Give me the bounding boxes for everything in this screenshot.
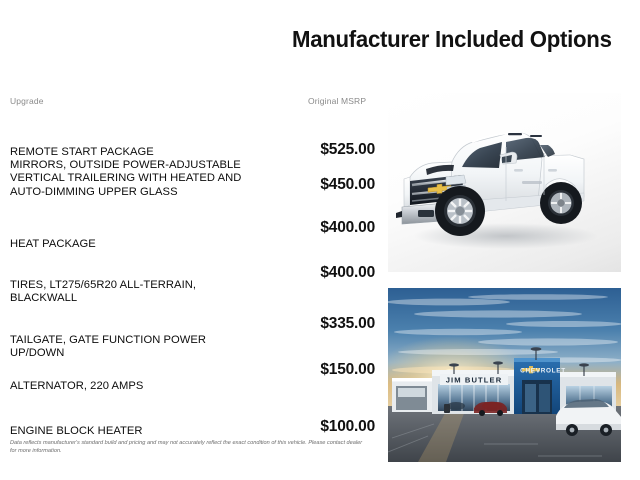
table-row: ALTERNATOR, 220 AMPS $150.00 <box>0 361 386 404</box>
table-row: TAILGATE, GATE FUNCTION POWER UP/DOWN $3… <box>0 314 386 361</box>
rear-wheel <box>540 182 582 224</box>
option-label: MIRRORS, OUTSIDE POWER-ADJUSTABLE VERTIC… <box>10 159 255 199</box>
table-row: REMOTE START PACKAGE $525.00 <box>0 116 386 159</box>
column-header-upgrade: Upgrade <box>10 96 44 106</box>
option-price: $335.00 <box>236 315 375 333</box>
table-header-row: Upgrade Original MSRP <box>0 96 386 116</box>
dealership-illustration: JIM BUTLER CHEVROLET <box>388 288 621 462</box>
option-price: $525.00 <box>236 141 375 159</box>
table-row: MIRRORS, OUTSIDE POWER-ADJUSTABLE VERTIC… <box>0 159 386 219</box>
option-label: HEAT PACKAGE <box>10 238 255 251</box>
option-label: TAILGATE, GATE FUNCTION POWER UP/DOWN <box>10 334 255 361</box>
page-title: Manufacturer Included Options <box>292 26 601 52</box>
option-label: ALTERNATOR, 220 AMPS <box>10 380 255 393</box>
options-table: Upgrade Original MSRP REMOTE START PACKA… <box>0 96 386 444</box>
column-header-msrp: Original MSRP <box>308 96 366 106</box>
option-label: TIRES, LT275/65R20 ALL-TERRAIN, BLACKWAL… <box>10 279 255 306</box>
dealership-sign-text: JIM BUTLER <box>446 375 503 384</box>
option-label: ENGINE BLOCK HEATER <box>10 425 255 438</box>
truck-illustration <box>388 93 621 272</box>
option-price: $450.00 <box>236 176 375 194</box>
option-price: $400.00 <box>236 264 375 282</box>
dealership-exterior-photo: JIM BUTLER CHEVROLET <box>388 288 621 462</box>
option-price: $100.00 <box>236 418 375 436</box>
table-row: ENGINE BLOCK HEATER $100.00 <box>0 404 386 444</box>
option-price: $400.00 <box>236 219 375 237</box>
front-wheel <box>435 186 485 236</box>
option-price: $150.00 <box>236 361 375 379</box>
dealership-brand-text: CHEVROLET <box>520 367 566 374</box>
option-label: REMOTE START PACKAGE <box>10 146 255 159</box>
disclaimer-text: Data reflects manufacturer's standard bu… <box>10 440 370 455</box>
white-pickup-truck-photo <box>388 93 621 272</box>
table-row: TIRES, LT275/65R20 ALL-TERRAIN, BLACKWAL… <box>0 264 386 314</box>
manufacturer-options-page: Manufacturer Included Options Upgrade Or… <box>0 0 640 480</box>
table-row: HEAT PACKAGE $400.00 <box>0 219 386 264</box>
